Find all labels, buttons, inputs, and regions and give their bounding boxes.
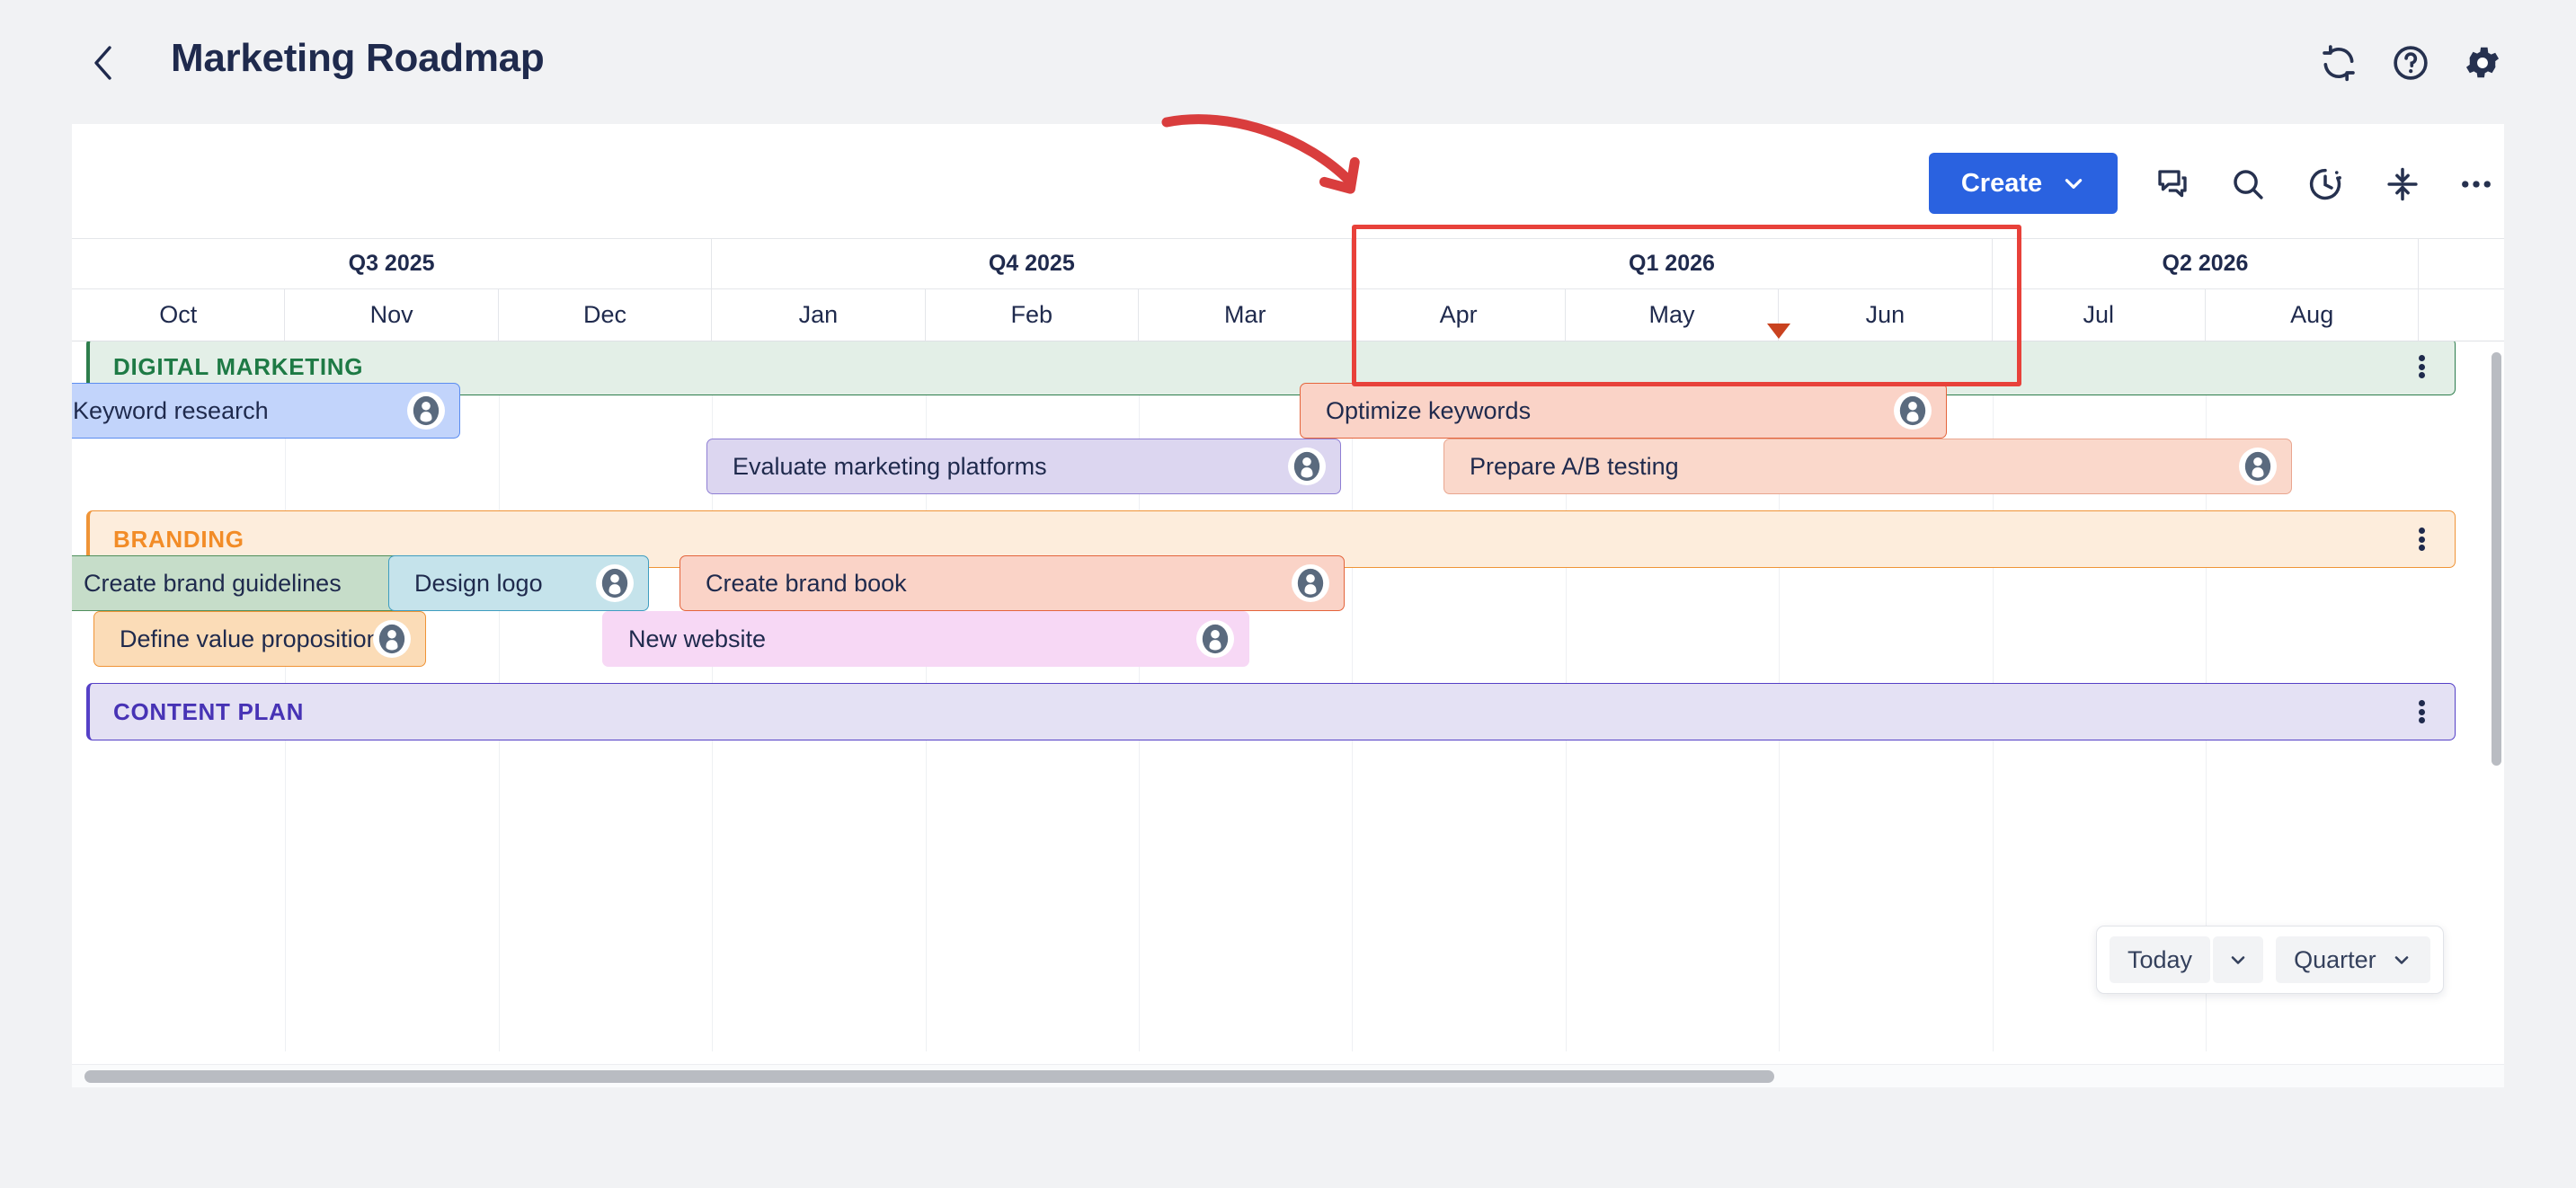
today-dropdown-button[interactable] — [2213, 936, 2263, 983]
quarter-header-cell: Q3 2025 — [72, 239, 712, 288]
month-header-cell[interactable]: Feb — [926, 289, 1139, 341]
assignee-avatar-icon — [1292, 451, 1322, 482]
task-bar-label: Define value propositions — [120, 625, 392, 653]
month-header-cell[interactable]: Aug — [2206, 289, 2419, 341]
task-bar-label: Keyword research — [73, 397, 269, 425]
month-header-label: May — [1648, 301, 1694, 329]
task-bar[interactable]: Design logo — [388, 555, 649, 611]
month-header-cell[interactable]: Jun — [1779, 289, 1992, 341]
history-icon[interactable] — [2303, 162, 2348, 207]
task-assignee-avatar[interactable] — [373, 620, 411, 658]
task-assignee-avatar[interactable] — [407, 392, 445, 430]
task-bar-label: Create brand guidelines — [84, 570, 342, 598]
quarter-header-row: Q3 2025Q4 2025Q1 2026Q2 2026 — [72, 239, 2504, 289]
assignee-avatar-icon — [600, 568, 630, 598]
vertical-scrollbar-thumb[interactable] — [2492, 352, 2501, 766]
vertical-scrollbar[interactable] — [2488, 341, 2504, 1051]
month-header-cell[interactable]: Jan — [712, 289, 925, 341]
month-header-label: Mar — [1224, 301, 1266, 329]
horizontal-scrollbar[interactable] — [72, 1064, 2504, 1087]
more-icon[interactable] — [2454, 162, 2499, 207]
assignee-avatar-icon — [411, 395, 441, 426]
quarter-header-label: Q3 2025 — [349, 251, 435, 277]
month-header-label: Apr — [1440, 301, 1478, 329]
task-assignee-avatar[interactable] — [1196, 620, 1234, 658]
month-header-label: Aug — [2290, 301, 2333, 329]
create-button-label: Create — [1961, 169, 2042, 199]
task-bar[interactable]: Evaluate marketing platforms — [706, 439, 1341, 494]
assignee-avatar-icon — [1200, 624, 1230, 654]
board-toolbar: Create — [72, 124, 2504, 239]
group-row-label: DIGITAL MARKETING — [113, 353, 363, 381]
create-button[interactable]: Create — [1929, 153, 2118, 214]
quarter-header-cell: Q4 2025 — [712, 239, 1352, 288]
sync-icon[interactable] — [2317, 41, 2360, 84]
help-icon[interactable] — [2389, 41, 2432, 84]
month-header-label: Nov — [370, 301, 413, 329]
today-marker — [1767, 324, 1790, 339]
month-header-cell[interactable]: Nov — [285, 289, 498, 341]
chevron-down-icon — [2391, 949, 2412, 971]
task-assignee-avatar[interactable] — [1894, 392, 1932, 430]
task-bar-label: Evaluate marketing platforms — [733, 453, 1047, 481]
settings-icon[interactable] — [2461, 41, 2504, 84]
quarter-header-label: Q2 2026 — [2163, 251, 2249, 277]
quarter-header-cell: Q1 2026 — [1352, 239, 1992, 288]
month-header-cell[interactable]: May — [1566, 289, 1779, 341]
month-header-label: Feb — [1011, 301, 1053, 329]
task-bar-label: Prepare A/B testing — [1470, 453, 1679, 481]
assignee-avatar-icon — [377, 624, 407, 654]
task-bar-label: Optimize keywords — [1326, 397, 1531, 425]
task-assignee-avatar[interactable] — [1288, 448, 1326, 485]
task-assignee-avatar[interactable] — [2239, 448, 2277, 485]
chevron-down-icon — [2227, 949, 2249, 971]
today-button-label: Today — [2127, 946, 2192, 974]
comments-icon[interactable] — [2150, 162, 2195, 207]
page-title: Marketing Roadmap — [171, 36, 544, 81]
month-header-cell[interactable]: Apr — [1352, 289, 1565, 341]
month-header-cell[interactable]: Mar — [1139, 289, 1352, 341]
horizontal-scrollbar-thumb[interactable] — [84, 1070, 1774, 1083]
task-bar-label: Design logo — [414, 570, 543, 598]
task-bar[interactable]: Create brand book — [680, 555, 1345, 611]
assignee-avatar-icon — [2243, 451, 2273, 482]
month-header-cell[interactable]: Oct — [72, 289, 285, 341]
month-header-label: Oct — [159, 301, 197, 329]
group-row-menu-button[interactable] — [2408, 696, 2435, 727]
quarter-header-label: Q1 2026 — [1629, 251, 1715, 277]
timeline-scale-controls: Today Quarter — [2096, 926, 2444, 994]
scale-dropdown-button[interactable]: Quarter — [2276, 936, 2430, 983]
task-bar[interactable]: New website — [602, 611, 1249, 667]
assignee-avatar-icon — [1897, 395, 1928, 426]
month-header-label: Jul — [2083, 301, 2115, 329]
group-row-label: BRANDING — [113, 526, 244, 554]
back-button[interactable] — [83, 43, 122, 83]
task-bar[interactable]: Prepare A/B testing — [1443, 439, 2292, 494]
today-split-button: Today — [2110, 936, 2263, 983]
chevron-down-icon — [2062, 172, 2085, 195]
today-button[interactable]: Today — [2110, 936, 2210, 983]
month-header-row: OctNovDecJanFebMarAprMayJunJulAug — [72, 289, 2504, 341]
collapse-icon[interactable] — [2380, 162, 2425, 207]
quarter-header-label: Q4 2025 — [989, 251, 1075, 277]
task-bar-label: Create brand book — [706, 570, 907, 598]
assignee-avatar-icon — [1295, 568, 1326, 598]
app-header: Marketing Roadmap — [0, 0, 2576, 124]
search-icon[interactable] — [2225, 162, 2270, 207]
task-assignee-avatar[interactable] — [596, 564, 634, 602]
month-header-label: Dec — [583, 301, 626, 329]
task-bar-label: New website — [628, 625, 766, 653]
task-bar[interactable]: Optimize keywords — [1300, 383, 1947, 439]
group-row-menu-button[interactable] — [2408, 351, 2435, 382]
chevron-left-icon — [89, 43, 116, 83]
group-row-menu-button[interactable] — [2408, 524, 2435, 554]
scale-dropdown-label: Quarter — [2294, 946, 2376, 974]
task-bar[interactable]: Define value propositions — [93, 611, 426, 667]
task-bar[interactable]: Keyword research — [72, 383, 460, 439]
task-assignee-avatar[interactable] — [1292, 564, 1329, 602]
quarter-header-cell: Q2 2026 — [1993, 239, 2420, 288]
group-row-label: CONTENT PLAN — [113, 698, 304, 726]
month-header-cell[interactable]: Dec — [499, 289, 712, 341]
month-header-label: Jan — [799, 301, 839, 329]
month-header-label: Jun — [1866, 301, 1905, 329]
month-header-cell[interactable]: Jul — [1993, 289, 2206, 341]
group-row[interactable]: CONTENT PLAN — [86, 683, 2456, 740]
